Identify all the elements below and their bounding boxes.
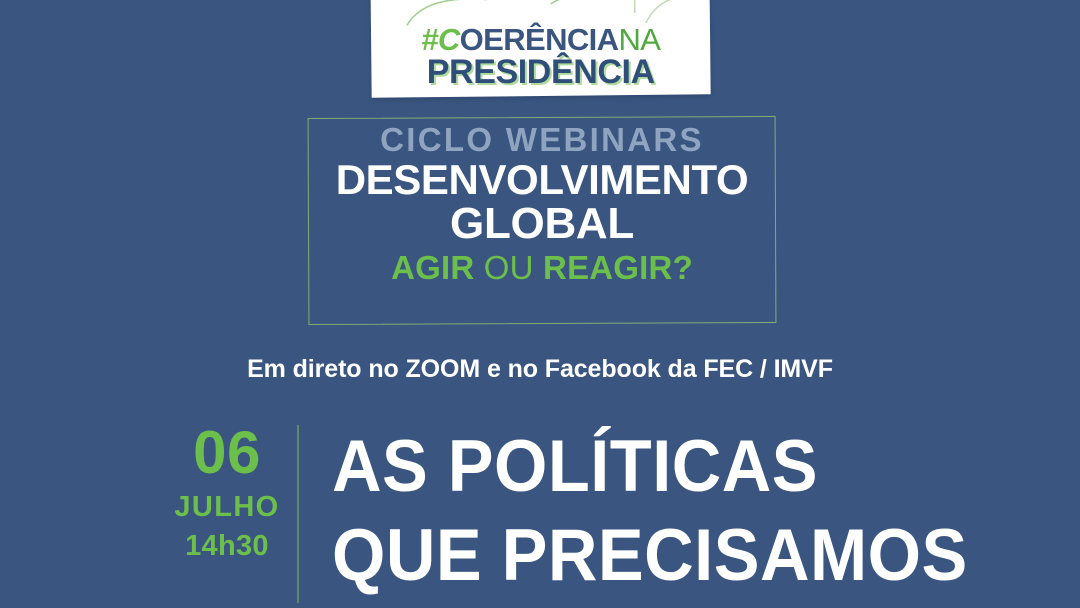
tagline-ou: OU — [484, 249, 534, 286]
vertical-divider — [297, 425, 299, 603]
event-day-number: 06 — [168, 424, 286, 482]
logo-hash-c: #C — [421, 22, 459, 57]
tagline-reagir: REAGIR? — [543, 249, 693, 286]
logo-coerencia-text: OERÊNCIA — [460, 22, 619, 57]
logo-line-two: PRESIDÊNCIA — [371, 57, 710, 90]
series-eyebrow-label: CICLO WEBINARS — [300, 122, 784, 158]
event-date-block: 06 JULHO 14h30 — [168, 424, 286, 563]
logo-presidencia-text: PRESIDÊNCIA — [427, 54, 655, 92]
event-month-label: JULHO — [168, 492, 286, 524]
headline-line-two: QUE PRECISAMOS — [332, 511, 968, 600]
title-line-desenvolvimento: DESENVOLVIMENTO — [300, 156, 784, 203]
title-line-global: GLOBAL — [300, 199, 784, 248]
coerencia-na-presidencia-logo: #COERÊNCIANA PRESIDÊNCIA — [370, 0, 710, 98]
tagline-agir: AGIR — [391, 249, 474, 286]
headline-line-one: AS POLÍTICAS — [332, 422, 968, 511]
title-tagline: AGIR OU REAGIR? — [300, 249, 784, 287]
event-headline: AS POLÍTICAS QUE PRECISAMOS — [332, 422, 1008, 600]
webinar-poster: #COERÊNCIANA PRESIDÊNCIA CICLO WEBINARS … — [0, 0, 1080, 608]
broadcast-info-subtitle: Em direto no ZOOM e no Facebook da FEC /… — [0, 355, 1080, 384]
logo-na-text: NA — [618, 22, 660, 57]
logo-line-one: #COERÊNCIANA — [371, 25, 710, 55]
webinar-title-group: CICLO WEBINARS DESENVOLVIMENTO GLOBAL AG… — [300, 122, 784, 287]
event-time-label: 14h30 — [168, 531, 286, 563]
